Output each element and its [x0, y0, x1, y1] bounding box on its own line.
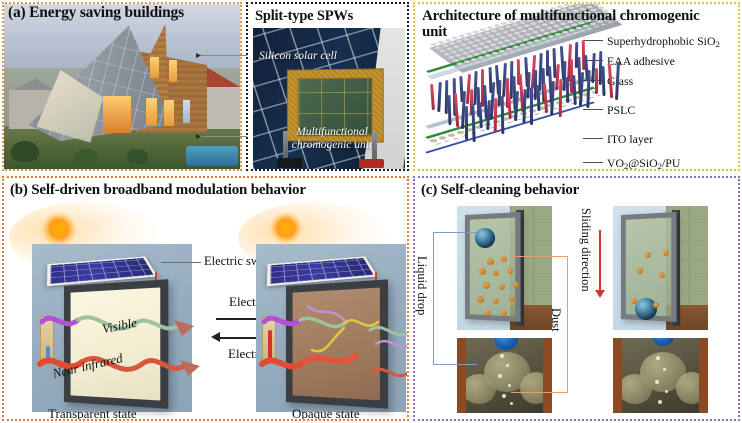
spray-speck [656, 356, 660, 360]
scattered-nir-ray [304, 356, 356, 362]
spray-speck [508, 384, 511, 387]
spray-speck [498, 374, 502, 378]
dust-particle [477, 296, 484, 303]
liquid-crystal-rod [494, 98, 498, 132]
leader-line [583, 109, 603, 110]
blue-droplet [494, 338, 518, 350]
liquid-crystal-rod [437, 82, 442, 112]
architecture-3d-diagram [423, 40, 608, 168]
liquid-drop-leader-top [433, 232, 477, 233]
sliding-direction-arrow-shaft [599, 230, 601, 292]
label-liquid-drop: Liquid drop [414, 256, 429, 315]
panel-b-title: (b) Self-driven broadband modulation beh… [10, 182, 306, 198]
cool-window [183, 100, 190, 123]
dust-particle [501, 256, 507, 262]
spray-speck [510, 402, 513, 405]
window-render-before [457, 206, 552, 330]
surface-particle [462, 374, 496, 404]
self-cleaning-illustration: Sliding direction [415, 198, 738, 421]
blue-droplet [652, 338, 674, 346]
spray-speck [655, 380, 659, 384]
dust-leader-vertical [567, 256, 568, 392]
panel-arch-title: Architecture of multifunctional chromoge… [422, 8, 712, 40]
spw-photograph: Silicon solar cell Multifunctional chrom… [253, 28, 405, 169]
lit-window [169, 60, 177, 81]
escaping-ray [370, 327, 409, 334]
label-transparent-state: Transparent state [48, 406, 137, 421]
liquid-crystal-rod [558, 79, 562, 117]
liquid-drop-after [635, 298, 657, 320]
scattered-ray [344, 320, 378, 325]
leader-line [583, 162, 603, 163]
liquid-crystal-rod [447, 95, 451, 125]
liquid-drop-before [475, 228, 495, 248]
label-line-2: chromogenic unit [277, 139, 387, 152]
connector-line-window [199, 136, 247, 137]
shrub [127, 149, 148, 164]
shrub [75, 149, 99, 166]
light-rays-right [260, 300, 409, 410]
unit-base-black [277, 158, 301, 168]
spray-speck [665, 390, 668, 393]
dust-particle [663, 250, 669, 256]
incident-visible-ray [264, 318, 300, 323]
unit-base-red [359, 159, 383, 167]
panel-spw-title: Split-type SPWs [255, 9, 353, 25]
lit-window [146, 98, 158, 126]
dust-particle [483, 282, 490, 289]
liquid-crystal-rod [430, 84, 435, 110]
sliding-direction-arrow-head-icon [595, 290, 605, 298]
dust-particle-collected [631, 298, 637, 304]
liquid-crystal-rod [465, 106, 468, 140]
dust-particle [485, 310, 491, 316]
dust-particle [513, 282, 519, 288]
liquid-crystal-rod [522, 89, 526, 123]
scattered-ray [312, 328, 344, 351]
liquid-crystal-rod [566, 77, 569, 103]
label-sliding-direction: Sliding direction [578, 208, 593, 292]
spray-speck [506, 364, 509, 367]
panel-self-driven-modulation: (b) Self-driven broadband modulation beh… [2, 176, 409, 421]
dust-particle [509, 296, 515, 302]
liquid-crystal-rod [530, 87, 533, 125]
sun-icon-left [42, 212, 76, 246]
layer-label-pslc: PSLC [607, 103, 635, 118]
surface-particle [676, 372, 708, 404]
surface-particle [520, 372, 552, 404]
window-pane-dirty [465, 212, 521, 322]
panel-architecture: Architecture of multifunctional chromoge… [413, 2, 740, 171]
incident-visible-ray [42, 318, 78, 323]
dust-particle [487, 258, 494, 265]
dust-particle [499, 284, 505, 290]
liquid-crystal-rod [601, 66, 605, 96]
connector-line-roof [199, 55, 247, 56]
label-silicon-solar-cell: Silicon solar cell [259, 50, 337, 63]
dust-particle [493, 270, 499, 276]
leader-line [583, 138, 603, 139]
label-line-1: Multifunctional [277, 126, 387, 139]
liquid-crystal-rod [543, 83, 548, 113]
dust-particle [659, 272, 665, 278]
dust-particle-collected [653, 302, 659, 308]
dust-particle [479, 268, 486, 275]
lit-doorway [103, 96, 131, 132]
spray-speck [500, 354, 504, 358]
surface-particle [618, 374, 652, 404]
dust-particle [637, 268, 643, 274]
incident-nir-ray [262, 361, 304, 367]
panel-self-cleaning: (c) Self-cleaning behavior [413, 176, 740, 421]
dust-leader-top [511, 256, 568, 257]
lit-window [150, 57, 158, 78]
escaping-nir-ray [372, 369, 409, 375]
lit-window [164, 100, 173, 126]
dust-leader-bottom [511, 392, 568, 393]
photo-droplet-after [613, 338, 708, 413]
dust-particle [493, 298, 499, 304]
swimming-pool [186, 146, 238, 166]
liquid-drop-leader-vertical [433, 232, 434, 364]
spray-speck [502, 394, 506, 398]
liquid-crystal-rod [595, 68, 598, 94]
dust-particle [507, 268, 513, 274]
leader-electric-switch [161, 262, 201, 263]
liquid-crystal-rod [572, 74, 577, 104]
liquid-crystal-rod [454, 93, 459, 127]
panel-c-title: (c) Self-cleaning behavior [421, 182, 579, 198]
photo-droplet-before [457, 338, 552, 413]
house-photograph [4, 4, 240, 169]
liquid-drop-leader-bottom [433, 364, 477, 365]
spray-speck [663, 368, 666, 371]
spray-speck [658, 400, 662, 404]
label-multifunctional-chromogenic-unit: Multifunctional chromogenic unit [277, 126, 387, 152]
arrow-head-left-icon [211, 332, 220, 342]
sun-icon-right [270, 212, 302, 244]
window-render-after [613, 206, 708, 330]
label-dust: Dust [548, 308, 563, 332]
dust-particle [645, 252, 651, 258]
dust-particle [501, 310, 507, 316]
panel-a-title: (a) Energy saving buildings [8, 5, 184, 22]
layer-label-vo2-sio2-pu: VO2@SiO2/PU [607, 156, 680, 171]
shrub [11, 141, 39, 162]
label-opaque-state: Opaque state [292, 406, 360, 421]
scattered-ray [300, 318, 346, 326]
escaping-ray [376, 341, 409, 347]
modulation-illustration: Visible Near infrared Electric switch El… [4, 200, 407, 419]
layer-label-ito: ITO layer [607, 132, 653, 147]
panel-split-type-spws: Split-type SPWs Silicon solar cell Multi… [246, 2, 409, 171]
panel-energy-saving-buildings [2, 2, 242, 171]
figure-root: (a) Energy saving buildings Split-type S… [0, 0, 742, 423]
